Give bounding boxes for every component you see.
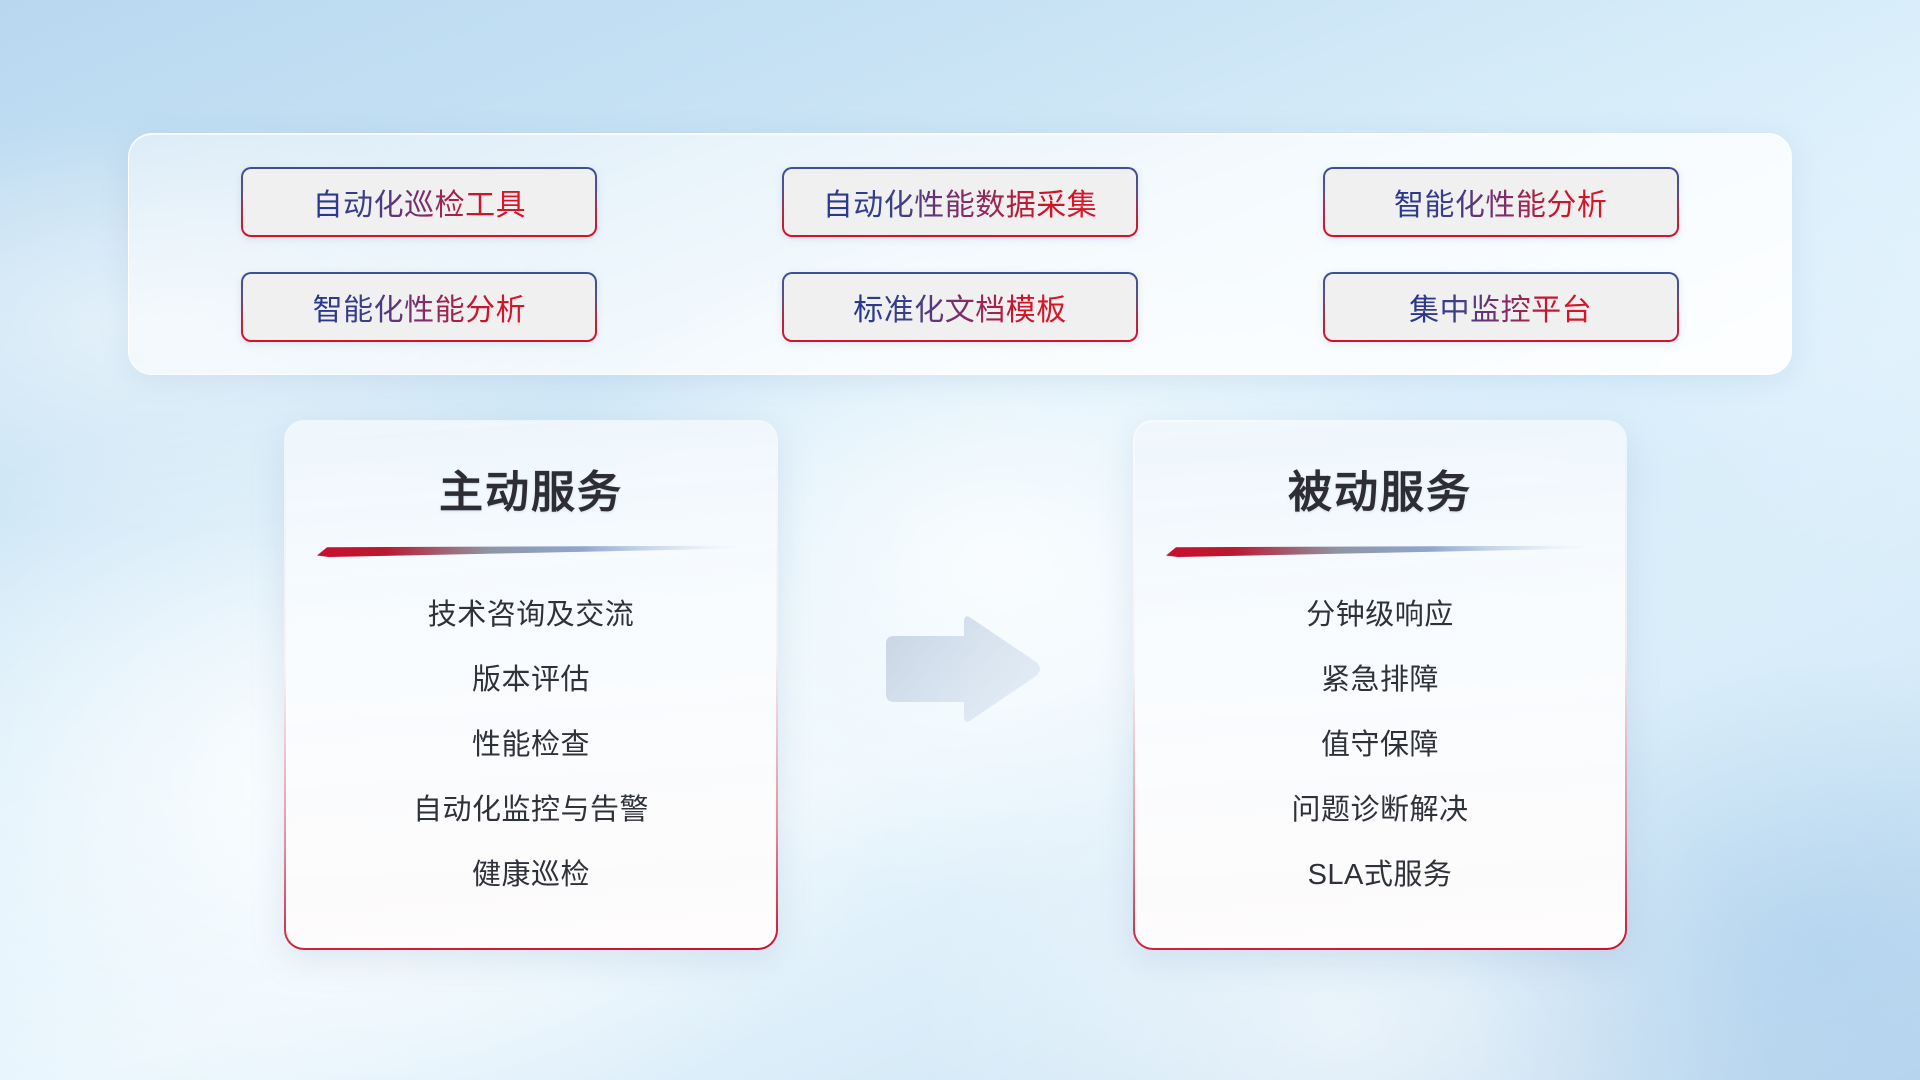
passive-service-card-inner: 被动服务 — [1135, 422, 1625, 948]
capability-pill-4-label: 智能化性能分析 — [313, 285, 527, 329]
slide-canvas: 自动化巡检工具 自动化性能数据采集 智能化性能分析 智能化性能分析 标准化文档模… — [0, 0, 1920, 1080]
active-service-card[interactable]: 主动服务 — [284, 420, 778, 950]
list-item: 版本评估 — [472, 648, 590, 713]
capability-pill-6[interactable]: 集中监控平台 — [1323, 272, 1679, 342]
capability-pill-4[interactable]: 智能化性能分析 — [241, 272, 597, 342]
capability-pill-6-inner: 集中监控平台 — [1325, 274, 1677, 340]
list-item: 问题诊断解决 — [1291, 778, 1468, 843]
passive-service-card[interactable]: 被动服务 — [1133, 420, 1627, 950]
capability-pill-5-label: 标准化文档模板 — [853, 285, 1067, 329]
capability-pill-6-label: 集中监控平台 — [1409, 285, 1592, 329]
passive-service-divider — [1166, 544, 1594, 557]
capability-pill-1[interactable]: 自动化巡检工具 — [241, 167, 597, 237]
capability-pill-5[interactable]: 标准化文档模板 — [782, 272, 1138, 342]
capability-pill-1-label: 自动化巡检工具 — [313, 180, 527, 224]
capability-pill-1-inner: 自动化巡检工具 — [243, 169, 595, 235]
capability-pill-2-inner: 自动化性能数据采集 — [784, 169, 1136, 235]
capability-pill-3-inner: 智能化性能分析 — [1325, 169, 1677, 235]
list-item: 分钟级响应 — [1306, 583, 1454, 648]
active-service-divider — [317, 544, 745, 557]
capability-pill-3[interactable]: 智能化性能分析 — [1323, 167, 1679, 237]
passive-service-title: 被动服务 — [1288, 456, 1472, 520]
list-item: 健康巡检 — [472, 843, 590, 908]
list-item: 紧急排障 — [1321, 648, 1439, 713]
capability-pill-4-inner: 智能化性能分析 — [243, 274, 595, 340]
passive-service-list: 分钟级响应 紧急排障 值守保障 问题诊断解决 SLA式服务 — [1135, 583, 1625, 948]
capability-pill-2-label: 自动化性能数据采集 — [823, 180, 1098, 224]
active-service-list: 技术咨询及交流 版本评估 性能检查 自动化监控与告警 健康巡检 — [286, 583, 776, 948]
list-item: 技术咨询及交流 — [428, 583, 635, 648]
active-service-title: 主动服务 — [439, 456, 623, 520]
capability-pill-5-inner: 标准化文档模板 — [784, 274, 1136, 340]
capability-pill-3-label: 智能化性能分析 — [1394, 180, 1608, 224]
list-item: 值守保障 — [1321, 713, 1439, 778]
capability-pill-2[interactable]: 自动化性能数据采集 — [782, 167, 1138, 237]
capabilities-panel: 自动化巡检工具 自动化性能数据采集 智能化性能分析 智能化性能分析 标准化文档模… — [128, 133, 1792, 375]
active-service-card-inner: 主动服务 — [286, 422, 776, 948]
right-arrow-icon — [878, 610, 1044, 728]
list-item: 自动化监控与告警 — [413, 778, 649, 843]
list-item: SLA式服务 — [1308, 843, 1453, 908]
list-item: 性能检查 — [472, 713, 590, 778]
